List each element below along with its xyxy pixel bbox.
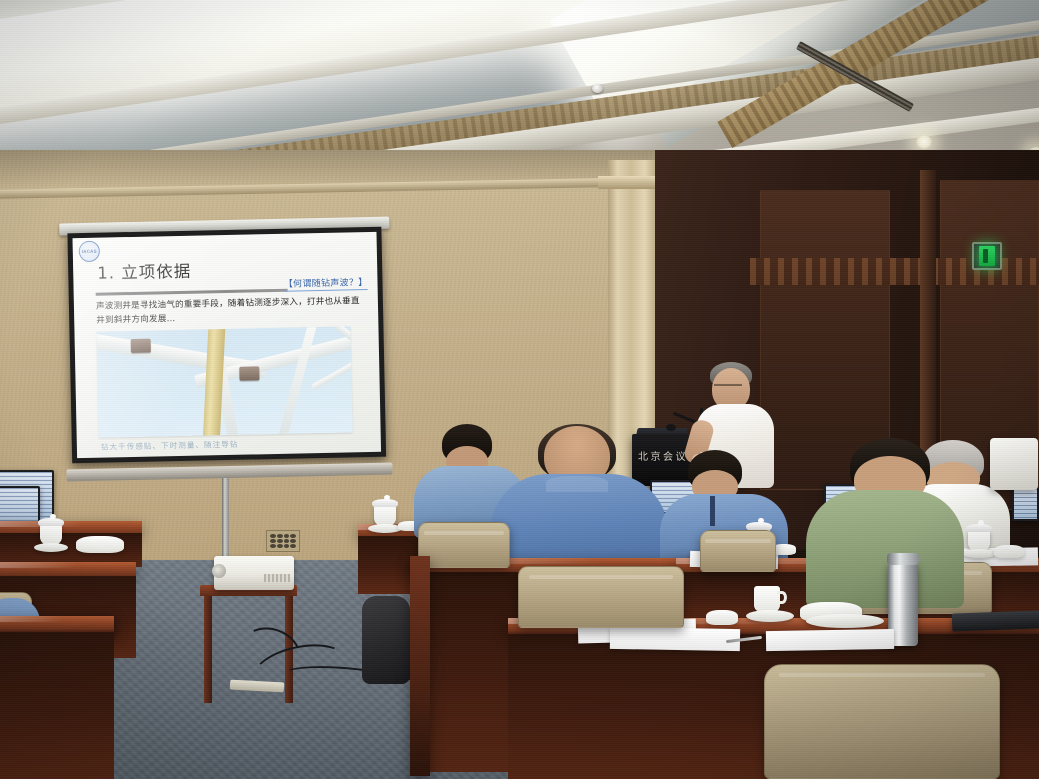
- papers-front-3: [766, 629, 894, 651]
- presenter-glasses-icon: [714, 384, 742, 389]
- teacup-row2-right: [968, 530, 990, 551]
- desk-divider-post: [410, 556, 430, 776]
- napkin-row2-right: [994, 545, 1024, 558]
- papers-front-2: [610, 627, 740, 651]
- screen-frame: IACAS 1. 立项依据 【何谓随钻声波？】 声波测井是寻找油气的重要手段，随…: [67, 227, 386, 464]
- slide-tagline: 【何谓随钻声波？】: [284, 275, 368, 292]
- projector: [214, 556, 294, 590]
- saucer-left: [34, 543, 68, 552]
- chair-front-right[interactable]: [764, 664, 1000, 779]
- screen-bottom-bar: [66, 463, 392, 482]
- projector-lens-icon: [212, 564, 226, 578]
- chair-row2-mid[interactable]: [700, 530, 776, 572]
- saucer-front-mid: [806, 614, 884, 628]
- slide-title: 1. 立项依据: [97, 258, 191, 284]
- desk-left-lower: [0, 562, 136, 576]
- saucer-center-left: [368, 524, 402, 533]
- attendee-4-shirt: [806, 490, 964, 608]
- desk-left-upper: [0, 521, 142, 533]
- backpack: [362, 596, 410, 684]
- slide-body-text: 声波测井是寻找油气的重要手段，随着钻测逐步深入，打井也从垂直井到斜井方向发展…: [96, 294, 367, 328]
- projector-vent: [264, 574, 290, 582]
- desk-foreground-left: [0, 616, 114, 632]
- teacup-left: [40, 524, 62, 545]
- conference-room-photo: IACAS 1. 立项依据 【何谓随钻声波？】 声波测井是寻找油气的重要手段，随…: [0, 0, 1039, 779]
- desk-foreground-left-panel: [0, 632, 114, 779]
- wall-outlet-panel[interactable]: [266, 530, 300, 552]
- napkin-front-left: [706, 610, 738, 625]
- drill-pipe: [203, 326, 226, 437]
- downlight-icon-1: [916, 135, 932, 149]
- smoke-detector-icon: [592, 84, 603, 93]
- exit-running-man-icon: [979, 246, 995, 266]
- chair-row2-left[interactable]: [418, 522, 510, 568]
- monitor-far-right: [1012, 487, 1039, 521]
- slide-photo-drilling-rig: [96, 326, 352, 437]
- mug-front-left: [754, 586, 780, 612]
- rig-sensor-2: [239, 366, 259, 380]
- white-cabinet-unit: [990, 438, 1038, 490]
- slide-caption: 钻大千传感贴、下时测量、随注导钻: [101, 437, 341, 453]
- attendee-3-lanyard: [710, 496, 715, 526]
- attendee-2-collar: [546, 476, 608, 492]
- slide-surface: IACAS 1. 立项依据 【何谓随钻声波？】 声波测井是寻找油气的重要手段，随…: [73, 232, 382, 458]
- teacup-center-left: [374, 505, 396, 526]
- napkin-left: [76, 536, 124, 553]
- exit-sign: [972, 242, 1002, 270]
- saucer-front-left: [746, 610, 794, 622]
- rig-sensor-1: [131, 339, 151, 353]
- chair-front-left[interactable]: [518, 566, 684, 628]
- saucer-row2-right: [962, 549, 996, 558]
- closed-laptop[interactable]: [952, 610, 1039, 631]
- person-attendee-4: [806, 438, 966, 606]
- slide-divider-rule: [96, 289, 288, 296]
- projection-screen: IACAS 1. 立项依据 【何谓随钻声波？】 声波测井是寻找油气的重要手段，随…: [59, 223, 394, 488]
